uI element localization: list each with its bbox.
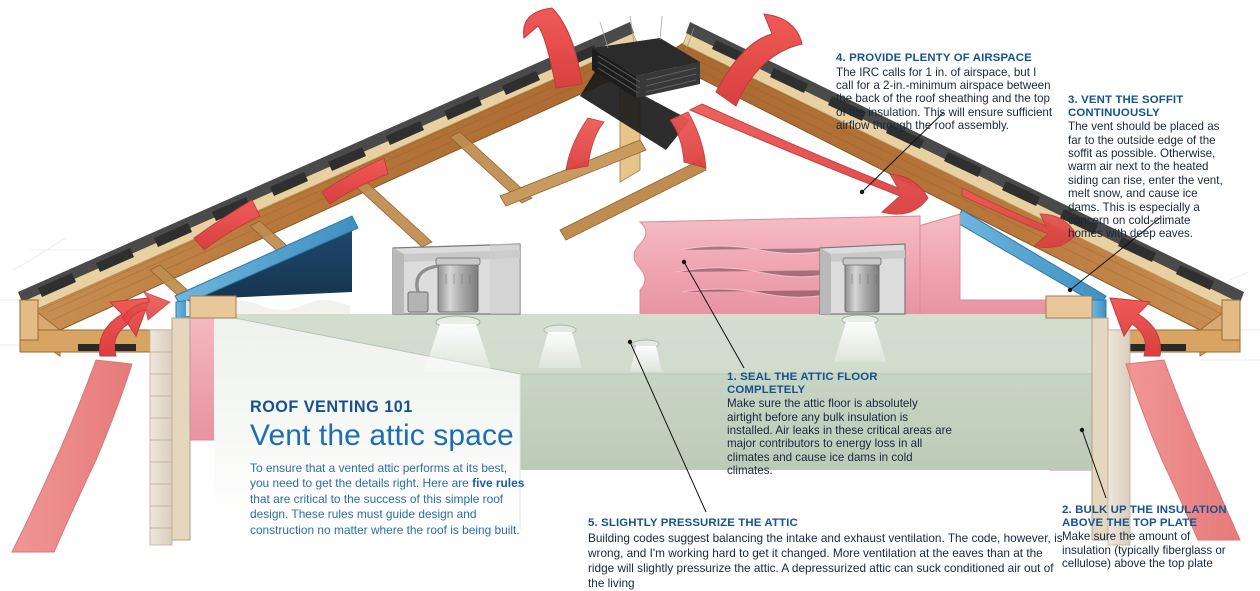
callout-1-seal-attic-floor: 1. SEAL THE ATTIC FLOOR COMPLETELY Make … — [727, 371, 955, 478]
figure-kicker: ROOF VENTING 101 — [250, 398, 528, 417]
siding-left — [150, 330, 172, 545]
callout-3-body: The vent should be placed as far to the … — [1068, 120, 1228, 241]
callout-2-body: Make sure the amount of insulation (typi… — [1062, 530, 1232, 570]
light-cone-mid — [538, 325, 582, 368]
top-plate-right — [1046, 296, 1092, 318]
callout-1-heading: 1. SEAL THE ATTIC FLOOR COMPLETELY — [727, 371, 955, 396]
figure-title-block: ROOF VENTING 101 Vent the attic space To… — [250, 398, 528, 538]
arrow-ridge-inner-right — [670, 112, 706, 168]
callout-2-heading: 2. BULK UP THE INSULATION ABOVE THE TOP … — [1062, 504, 1232, 529]
figure-intro: To ensure that a vented attic performs a… — [250, 461, 528, 538]
rafter-tail-right — [1222, 300, 1240, 340]
callout-4-body: The IRC calls for 1 in. of airspace, but… — [836, 66, 1056, 133]
recessed-light-can-right — [845, 262, 879, 312]
intro-bold-five-rules: five rules — [472, 476, 524, 490]
attic-cutaway-drawing — [0, 0, 1260, 573]
junction-box-left — [408, 292, 428, 312]
callout-4-heading: 4. PROVIDE PLENTY OF AIRSPACE — [836, 52, 1056, 65]
wall-sheathing-left — [172, 318, 190, 540]
intro-part-2: that are critical to the success of this… — [250, 492, 520, 537]
recessed-light-can-left — [438, 262, 478, 312]
arrow-wall-intake-left — [12, 360, 132, 552]
callout-3-vent-soffit: 3. VENT THE SOFFIT CONTINUOUSLY The vent… — [1068, 94, 1228, 241]
light-cone-far — [630, 340, 662, 372]
callout-5-body: Building codes suggest balancing the int… — [588, 531, 1070, 591]
roof-venting-illustration: 4. PROVIDE PLENTY OF AIRSPACE The IRC ca… — [0, 0, 1260, 573]
callout-4-provide-airspace: 4. PROVIDE PLENTY OF AIRSPACE The IRC ca… — [836, 52, 1056, 133]
callout-2-bulk-insulation: 2. BULK UP THE INSULATION ABOVE THE TOP … — [1062, 504, 1232, 570]
callout-1-body: Make sure the attic floor is absolutely … — [727, 397, 955, 477]
intro-part-1: To ensure that a vented attic performs a… — [250, 461, 507, 490]
callout-5-heading: 5. SLIGHTLY PRESSURIZE THE ATTIC — [588, 517, 1070, 530]
figure-headline: Vent the attic space — [250, 419, 528, 452]
top-plate-left — [190, 296, 236, 318]
rafter-tail-left — [20, 300, 38, 340]
callout-3-heading: 3. VENT THE SOFFIT CONTINUOUSLY — [1068, 94, 1228, 119]
callout-5-pressurize-attic: 5. SLIGHTLY PRESSURIZE THE ATTIC Buildin… — [588, 517, 1070, 591]
